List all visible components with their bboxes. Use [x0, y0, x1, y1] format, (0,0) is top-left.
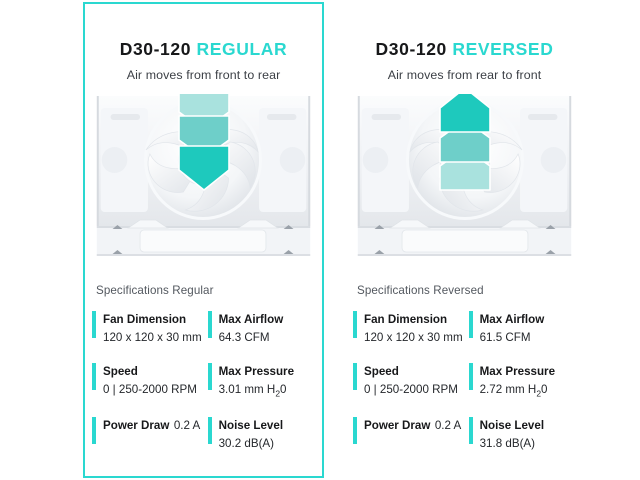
spec-accent-bar-icon	[353, 363, 357, 390]
spec-label: Max Pressure	[219, 365, 294, 378]
panel-regular: D30-120 REGULAR Air moves from front to …	[83, 2, 324, 478]
panel-reversed: D30-120 REVERSED Air moves from rear to …	[344, 2, 585, 478]
specs-caption-reversed: Specifications Reversed	[353, 284, 576, 297]
spec-label: Power Draw	[364, 419, 430, 432]
panel-regular-model: D30-120	[120, 39, 191, 59]
panel-reversed-header: D30-120 REVERSED Air moves from rear to …	[346, 4, 583, 82]
spec-item: Max Pressure 3.01 mm H20	[208, 362, 315, 399]
spec-value: 0.2 A	[435, 419, 461, 432]
panel-regular-title: D30-120 REGULAR	[85, 40, 322, 59]
spec-value: 2.72 mm H20	[480, 383, 548, 396]
spec-value: 0 | 250-2000 RPM	[364, 383, 458, 396]
spec-item: Speed 0 | 250-2000 RPM	[353, 362, 463, 399]
panel-reversed-subtitle: Air moves from rear to front	[346, 68, 583, 82]
spec-accent-bar-icon	[92, 363, 96, 390]
spec-value: 31.8 dB(A)	[480, 437, 535, 450]
spec-accent-bar-icon	[92, 311, 96, 338]
spec-item: Power Draw 0.2 A	[92, 416, 202, 452]
specs-caption-regular: Specifications Regular	[92, 284, 315, 297]
spec-item: Max Airflow 61.5 CFM	[469, 310, 576, 346]
spec-label: Fan Dimension	[364, 313, 447, 326]
spec-accent-bar-icon	[469, 311, 473, 338]
spec-item: Noise Level 30.2 dB(A)	[208, 416, 315, 452]
panel-regular-subtitle: Air moves from front to rear	[85, 68, 322, 82]
panel-reversed-variant: REVERSED	[452, 39, 553, 59]
spec-value: 120 x 120 x 30 mm	[364, 331, 463, 344]
spec-value: 64.3 CFM	[219, 331, 270, 344]
panel-reversed-fan-stage	[346, 94, 583, 262]
airflow-arrows-down-icon	[176, 94, 232, 196]
panel-reversed-title: D30-120 REVERSED	[346, 40, 583, 59]
spec-value: 0 | 250-2000 RPM	[103, 383, 197, 396]
spec-label: Fan Dimension	[103, 313, 186, 326]
spec-item: Power Draw 0.2 A	[353, 416, 463, 452]
panel-regular-fan-stage	[85, 94, 322, 262]
airflow-arrows-up-icon	[437, 94, 493, 196]
panel-reversed-model: D30-120	[376, 39, 447, 59]
spec-value: 120 x 120 x 30 mm	[103, 331, 202, 344]
spec-accent-bar-icon	[469, 417, 473, 444]
spec-item: Fan Dimension 120 x 120 x 30 mm	[353, 310, 463, 346]
spec-accent-bar-icon	[208, 363, 212, 390]
spec-value: 3.01 mm H20	[219, 383, 287, 396]
spec-label: Power Draw	[103, 419, 169, 432]
panel-regular-specs: Specifications Regular Fan Dimension 120…	[85, 262, 322, 451]
spec-label: Speed	[364, 365, 399, 378]
panel-regular-header: D30-120 REGULAR Air moves from front to …	[85, 4, 322, 82]
spec-accent-bar-icon	[208, 417, 212, 444]
spec-label: Noise Level	[480, 419, 544, 432]
spec-accent-bar-icon	[469, 363, 473, 390]
panel-regular-variant: REGULAR	[197, 39, 288, 59]
spec-value: 61.5 CFM	[480, 331, 531, 344]
spec-item: Speed 0 | 250-2000 RPM	[92, 362, 202, 399]
spec-item: Max Airflow 64.3 CFM	[208, 310, 315, 346]
spec-grid-regular: Fan Dimension 120 x 120 x 30 mm Max Airf…	[92, 310, 315, 451]
spec-label: Max Pressure	[480, 365, 555, 378]
panel-reversed-specs: Specifications Reversed Fan Dimension 12…	[346, 262, 583, 451]
spec-value: 30.2 dB(A)	[219, 437, 274, 450]
spec-accent-bar-icon	[353, 311, 357, 338]
spec-value: 0.2 A	[174, 419, 200, 432]
spec-grid-reversed: Fan Dimension 120 x 120 x 30 mm Max Airf…	[353, 310, 576, 451]
spec-accent-bar-icon	[353, 417, 357, 444]
spec-label: Max Airflow	[480, 313, 545, 326]
spec-label: Max Airflow	[219, 313, 284, 326]
spec-label: Speed	[103, 365, 138, 378]
spec-accent-bar-icon	[92, 417, 96, 444]
spec-item: Noise Level 31.8 dB(A)	[469, 416, 576, 452]
spec-item: Max Pressure 2.72 mm H20	[469, 362, 576, 399]
fan-comparison-graphic: D30-120 REGULAR Air moves from front to …	[0, 0, 640, 480]
spec-accent-bar-icon	[208, 311, 212, 338]
spec-label: Noise Level	[219, 419, 283, 432]
spec-item: Fan Dimension 120 x 120 x 30 mm	[92, 310, 202, 346]
